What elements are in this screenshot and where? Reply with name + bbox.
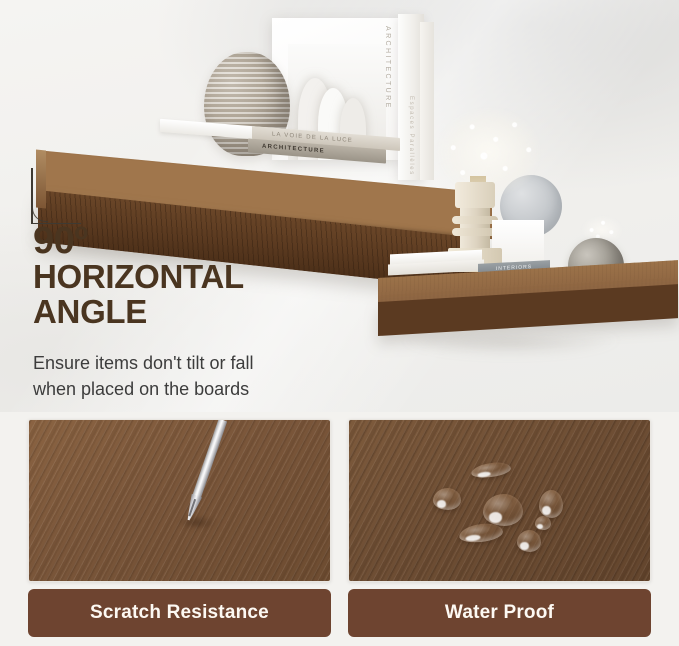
water-proof-label: Water Proof — [348, 589, 651, 637]
headline-line-1: HORIZONTAL — [33, 260, 363, 295]
headline-block: 90º HORIZONTAL ANGLE — [33, 222, 363, 329]
water-droplet-icon — [458, 521, 504, 544]
feature-panel-scratch: Scratch Resistance — [28, 419, 331, 637]
screwdriver-icon — [178, 419, 233, 529]
water-droplet-icon — [517, 530, 541, 552]
water-droplet-icon — [483, 494, 523, 526]
headline-degree: 90º — [33, 222, 363, 260]
screwdriver-scratch-test-photo — [28, 419, 331, 582]
water-droplets-photo — [348, 419, 651, 582]
product-feature-graphic: ARCHITECTURE Espaces Parallèles LA VOIE … — [0, 0, 679, 646]
feature-panel-water: Water Proof — [348, 419, 651, 637]
floating-shelf-lower — [378, 272, 678, 352]
subtitle-line-2: when placed on the boards — [33, 376, 373, 402]
pedestal-vase-mouth — [455, 182, 495, 208]
water-droplet-icon — [535, 516, 551, 530]
water-droplet-icon — [433, 488, 461, 510]
subtitle-block: Ensure items don't tilt or fall when pla… — [33, 350, 373, 402]
scratch-resistance-label: Scratch Resistance — [28, 589, 331, 637]
water-droplet-icon — [470, 460, 512, 479]
subtitle-line-1: Ensure items don't tilt or fall — [33, 350, 373, 376]
headline-line-2: ANGLE — [33, 295, 363, 330]
water-droplet-icon — [539, 490, 563, 518]
